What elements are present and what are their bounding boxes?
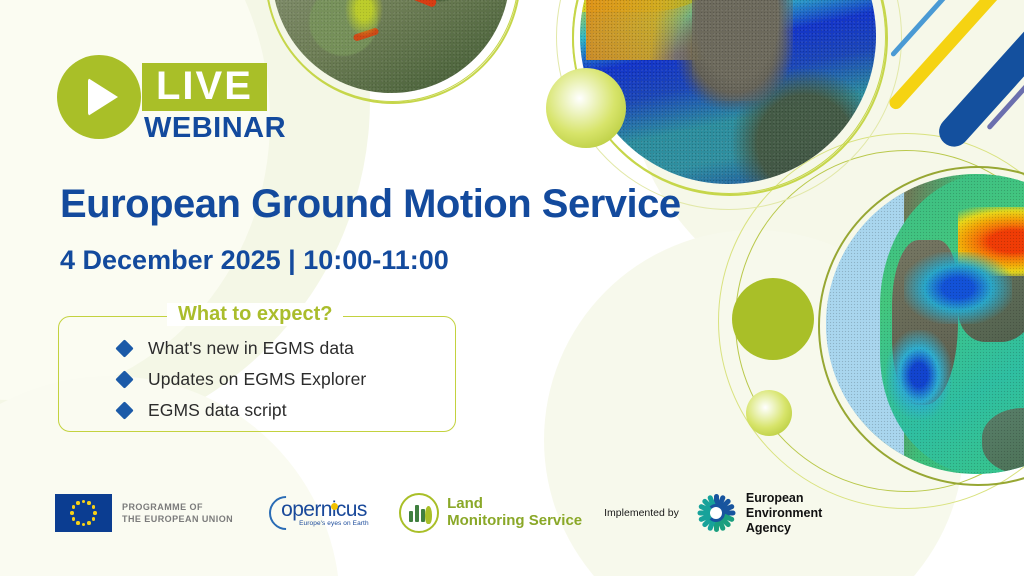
live-label: LIVE — [156, 64, 253, 108]
eea-line1: European — [746, 491, 822, 506]
eea-sun-icon — [695, 492, 737, 534]
play-icon — [88, 78, 118, 116]
page-title: European Ground Motion Service — [60, 182, 681, 227]
eu-star-icon — [82, 500, 86, 504]
list-item-label: Updates on EGMS Explorer — [148, 369, 366, 390]
list-item-label: EGMS data script — [148, 400, 287, 421]
land-monitoring-service-logo-icon: Land Monitoring Service — [399, 493, 582, 533]
eu-programme-line1: PROGRAMME OF — [122, 501, 233, 513]
eea-core-icon — [707, 504, 725, 522]
what-to-expect-list: What's new in EGMS data Updates on EGMS … — [118, 333, 366, 426]
lms-line1: Land — [447, 496, 582, 513]
footer-logo-bar: PROGRAMME OF THE EUROPEAN UNION opernicu… — [55, 488, 822, 538]
lms-wordmark: Land Monitoring Service — [447, 496, 582, 530]
webinar-label: WEBINAR — [144, 112, 286, 145]
webinar-poster: LIVE WEBINAR European Ground Motion Serv… — [0, 0, 1024, 576]
implemented-by-label: Implemented by — [604, 507, 679, 519]
what-to-expect-title: What to expect? — [167, 303, 343, 326]
eu-star-icon — [93, 511, 97, 515]
lms-bar-1 — [409, 511, 413, 522]
insar-point-grid — [826, 174, 1024, 474]
stripe-lightblue — [890, 0, 947, 57]
insar-volcano-deformation-circle — [580, 0, 876, 184]
eu-star-icon — [92, 505, 96, 509]
stripe-blue-thick — [933, 0, 1024, 153]
diamond-bullet-icon — [115, 401, 133, 419]
diamond-bullet-icon — [115, 370, 133, 388]
eu-star-icon — [72, 517, 76, 521]
green-solid-circle-right — [732, 278, 814, 360]
live-webinar-badge: LIVE WEBINAR — [57, 55, 297, 155]
stripe-purple — [986, 62, 1024, 131]
eea-wordmark: European Environment Agency — [746, 491, 822, 536]
lms-bar-2 — [415, 505, 419, 522]
insar-speckle-overlay — [580, 0, 876, 184]
eea-line2: Environment — [746, 506, 822, 521]
eu-programme-label: PROGRAMME OF THE EUROPEAN UNION — [122, 501, 233, 525]
insar-coastal-subsidence-circle — [826, 174, 1024, 474]
eu-star-icon — [82, 523, 86, 527]
satellite-landslide-map-circle — [272, 0, 510, 93]
stripe-yellow — [887, 0, 1014, 112]
list-item-label: What's new in EGMS data — [148, 338, 354, 359]
eu-star-icon — [76, 501, 80, 505]
eu-star-icon — [87, 521, 91, 525]
european-environment-agency-logo-icon: European Environment Agency — [695, 491, 822, 536]
copernicus-wordmark: opernicus — [281, 498, 367, 522]
eea-line3: Agency — [746, 521, 822, 536]
event-datetime: 4 December 2025 | 10:00-11:00 — [60, 245, 449, 276]
lms-line2: Monitoring Service — [447, 513, 582, 530]
list-item: EGMS data script — [118, 395, 366, 426]
copernicus-logo-icon: opernicus Europe's eyes on Earth — [269, 493, 381, 533]
green-gradient-sphere-top — [546, 68, 626, 148]
eu-star-icon — [87, 501, 91, 505]
lms-wheat-icon — [425, 506, 432, 524]
eu-programme-line2: THE EUROPEAN UNION — [122, 513, 233, 525]
green-gradient-sphere-small — [746, 390, 792, 436]
diamond-bullet-icon — [115, 339, 133, 357]
eu-star-icon — [72, 505, 76, 509]
live-label-box: LIVE — [142, 63, 267, 111]
eu-flag-icon — [55, 494, 112, 532]
copernicus-tagline: Europe's eyes on Earth — [299, 520, 369, 527]
eu-star-icon — [92, 517, 96, 521]
eu-star-icon — [76, 521, 80, 525]
list-item: Updates on EGMS Explorer — [118, 364, 366, 395]
play-button-circle[interactable] — [57, 55, 141, 139]
insar-point-grid — [272, 0, 510, 93]
list-item: What's new in EGMS data — [118, 333, 366, 364]
lms-mark-icon — [399, 493, 439, 533]
eu-star-icon — [70, 511, 74, 515]
